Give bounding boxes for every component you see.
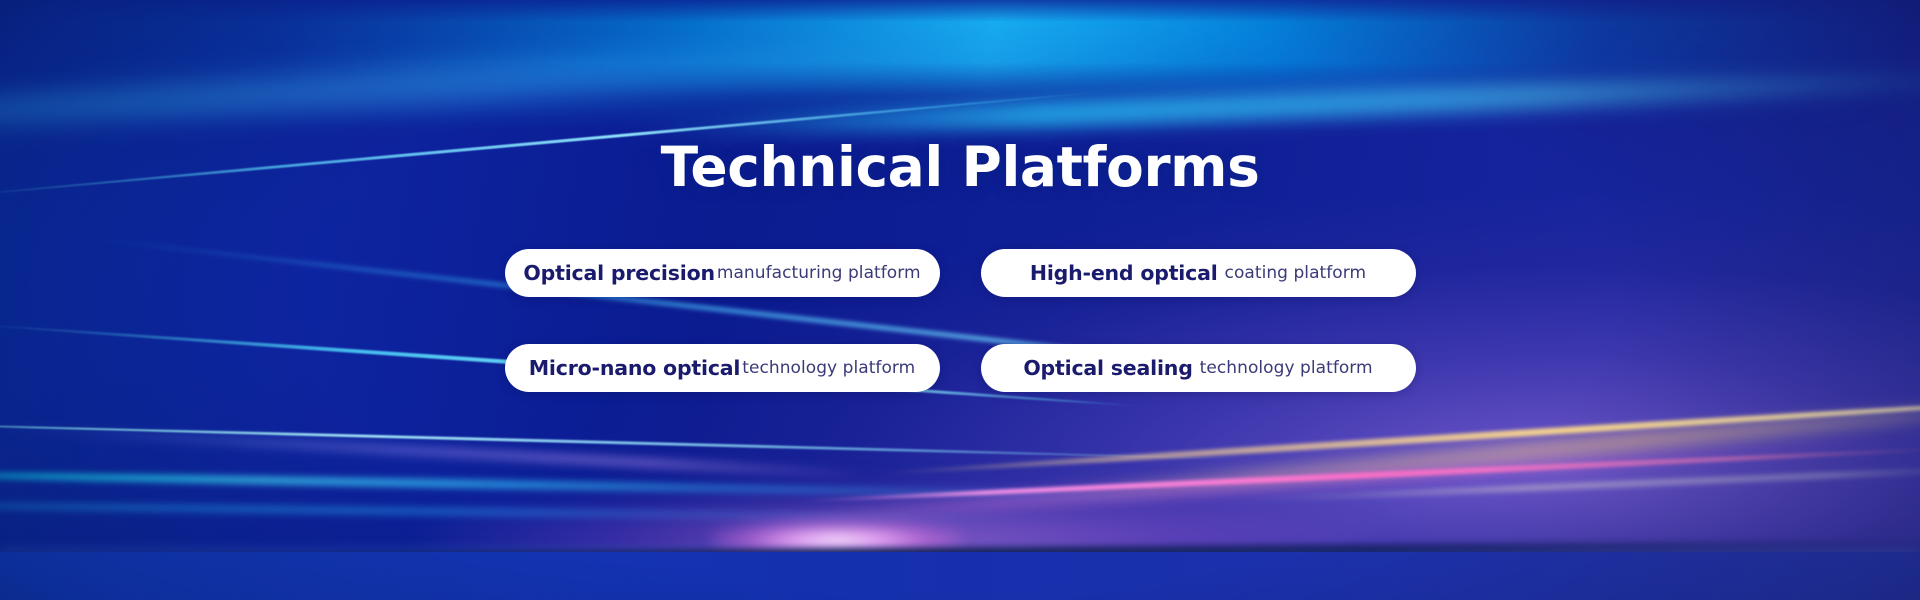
platform-pill-strong-label: Optical sealing [1023, 356, 1192, 380]
platform-pill-light-label: technology platform [742, 358, 915, 378]
platform-pill-high-end-optical[interactable]: High-end optical coating platform [981, 249, 1416, 297]
platform-pill-strong-label: Optical precision [523, 261, 714, 285]
technical-platforms-banner: Technical Platforms Optical precision ma… [0, 0, 1920, 600]
platform-pill-light-label: manufacturing platform [717, 263, 921, 283]
platform-pill-light-label: coating platform [1225, 263, 1367, 283]
platform-pill-strong-label: High-end optical [1030, 261, 1218, 285]
platform-pill-strong-label: Micro-nano optical [529, 356, 741, 380]
platform-pill-optical-precision[interactable]: Optical precision manufacturing platform [505, 249, 940, 297]
page-title: Technical Platforms [661, 140, 1260, 195]
banner-content: Technical Platforms Optical precision ma… [0, 0, 1920, 600]
platform-pill-optical-sealing[interactable]: Optical sealing technology platform [981, 344, 1416, 392]
platform-pill-micro-nano-optical[interactable]: Micro-nano optical technology platform [505, 344, 940, 392]
platform-pill-grid: Optical precision manufacturing platform… [505, 249, 1416, 392]
platform-pill-light-label: technology platform [1200, 358, 1373, 378]
